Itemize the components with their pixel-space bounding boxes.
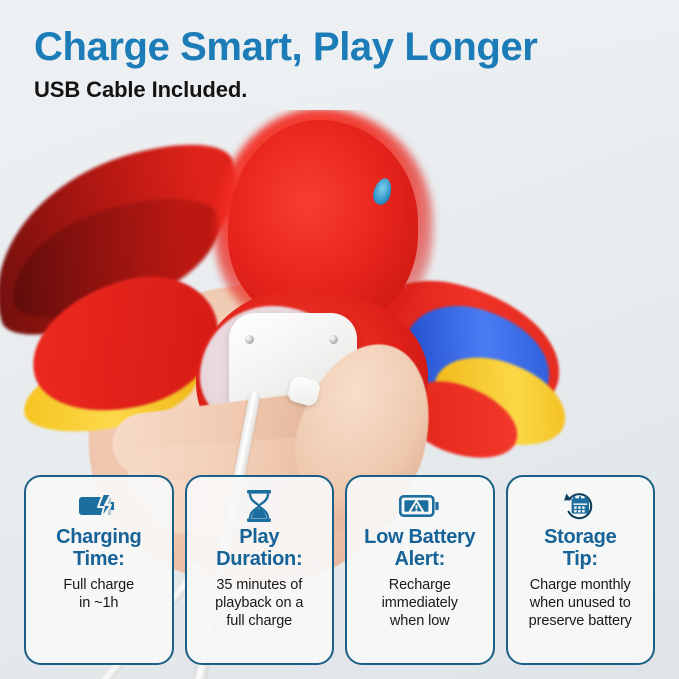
header: Charge Smart, Play Longer USB Cable Incl… (0, 0, 679, 103)
card-title: Play Duration: (216, 527, 302, 570)
feature-card-charging-time: Charging Time: Full charge in ~1h (24, 475, 174, 665)
battery-warning-icon (399, 488, 441, 524)
card-description: 35 minutes of playback on a full charge (215, 577, 303, 630)
product-infographic: Charge Smart, Play Longer USB Cable Incl… (0, 0, 679, 679)
page-subtitle: USB Cable Included. (34, 77, 679, 103)
page-title: Charge Smart, Play Longer (34, 26, 679, 68)
hourglass-icon (244, 488, 274, 524)
feature-card-storage-tip: Storage Tip: Charge monthly when unused … (506, 475, 656, 665)
screw-icon (245, 335, 254, 344)
calendar-refresh-icon (562, 488, 598, 524)
card-title: Charging Time: (56, 527, 141, 570)
card-title: Storage Tip: (544, 527, 616, 570)
card-description: Full charge in ~1h (63, 577, 134, 612)
card-title: Low Battery Alert: (364, 527, 475, 570)
battery-charging-icon (78, 488, 120, 524)
feature-cards: Charging Time: Full charge in ~1h Pla (0, 475, 679, 665)
screw-icon (329, 335, 338, 344)
feature-card-play-duration: Play Duration: 35 minutes of playback on… (185, 475, 335, 665)
feature-card-low-battery-alert: Low Battery Alert: Recharge immediately … (345, 475, 495, 665)
card-description: Charge monthly when unused to preserve b… (529, 577, 632, 630)
card-description: Recharge immediately when low (382, 577, 458, 630)
